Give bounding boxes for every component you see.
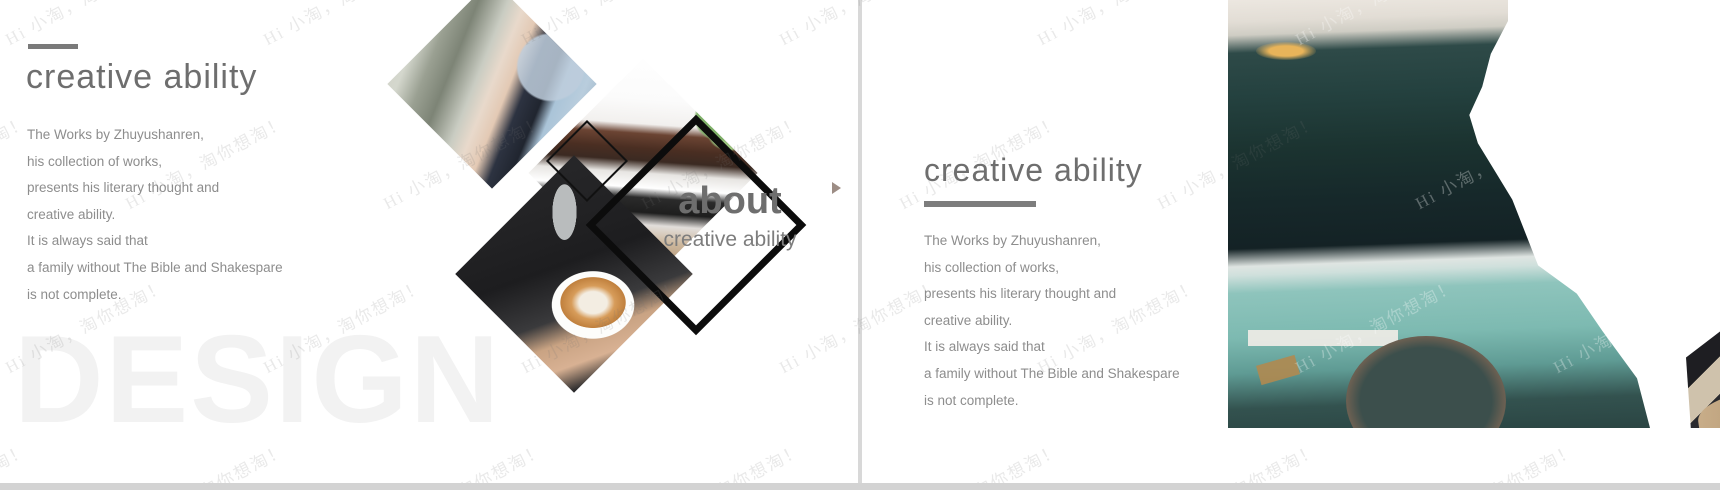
bottom-bar (0, 483, 1720, 490)
left-page-title: creative ability (26, 58, 257, 97)
cafe-shelf (1248, 330, 1398, 346)
left-body-text: The Works by Zhuyushanren, his collectio… (27, 122, 357, 308)
right-body-line: is not complete. (924, 388, 1254, 415)
right-body-line: The Works by Zhuyushanren, (924, 228, 1254, 255)
left-body-line: The Works by Zhuyushanren, (27, 122, 357, 149)
right-body-line: creative ability. (924, 308, 1254, 335)
left-body-line: his collection of works, (27, 149, 357, 176)
cafe-lamp-glow (1256, 42, 1316, 60)
slide-deck-canvas: DESIGN creative ability The Works by Zhu… (0, 0, 1720, 490)
right-body-line: It is always said that (924, 334, 1254, 361)
cafe-wood-prop (1256, 355, 1300, 385)
right-body-text: The Works by Zhuyushanren, his collectio… (924, 228, 1254, 414)
right-body-line: a family without The Bible and Shakespar… (924, 361, 1254, 388)
right-underline-bar (924, 201, 1036, 207)
photo-collage: about creative ability (300, 0, 800, 412)
about-title: about (640, 182, 820, 220)
left-body-line: It is always said that (27, 228, 357, 255)
left-accent-bar (28, 44, 78, 49)
cafe-silhouette-photo (1228, 0, 1720, 428)
cafe-mirror (1346, 336, 1506, 428)
left-body-line: is not complete. (27, 282, 357, 309)
right-body-line: his collection of works, (924, 255, 1254, 282)
about-label-group: about creative ability (640, 182, 820, 250)
panel-divider (858, 0, 862, 490)
right-slide-panel: DESIGN creative ability The Works by Zhu… (862, 0, 1720, 490)
right-body-line: presents his literary thought and (924, 281, 1254, 308)
next-slide-arrow-icon[interactable] (832, 182, 841, 194)
right-page-title: creative ability (924, 152, 1143, 189)
left-body-line: creative ability. (27, 202, 357, 229)
about-subtitle: creative ability (640, 229, 820, 250)
left-body-line: presents his literary thought and (27, 175, 357, 202)
left-body-line: a family without The Bible and Shakespar… (27, 255, 357, 282)
left-slide-panel: DESIGN creative ability The Works by Zhu… (0, 0, 860, 490)
